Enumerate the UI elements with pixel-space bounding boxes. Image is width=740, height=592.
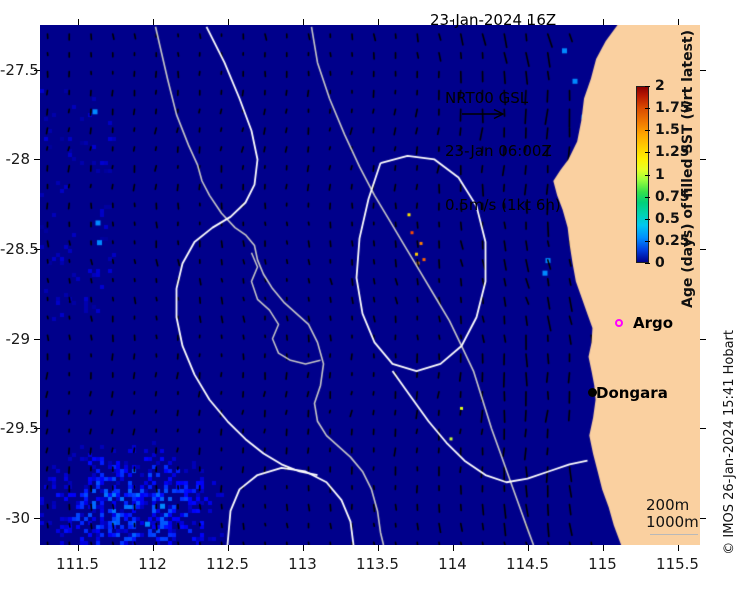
x-axis-tick bbox=[603, 545, 604, 551]
colorbar-tick bbox=[645, 263, 650, 264]
x-axis-tick-top bbox=[78, 19, 79, 25]
depth-legend-rule bbox=[650, 534, 698, 535]
x-axis-label: 112 bbox=[138, 555, 167, 573]
x-axis-tick-top bbox=[678, 19, 679, 25]
y-axis-tick-right bbox=[700, 70, 706, 71]
colorbar-title: Age (days) of filled SST (wrt latest) bbox=[680, 30, 696, 308]
x-axis-tick bbox=[228, 545, 229, 551]
right-arrow-icon bbox=[460, 106, 512, 122]
x-axis-tick bbox=[303, 545, 304, 551]
colorbar-tick-label: 2 bbox=[655, 78, 665, 94]
x-axis-tick-top bbox=[228, 19, 229, 25]
y-axis-tick bbox=[34, 159, 40, 160]
x-axis-tick-top bbox=[378, 19, 379, 25]
colorbar-tick bbox=[645, 219, 650, 220]
x-axis-tick bbox=[528, 545, 529, 551]
x-axis-tick bbox=[153, 545, 154, 551]
dongara-place-label: Dongara bbox=[596, 384, 668, 402]
x-axis-label: 114 bbox=[438, 555, 467, 573]
x-axis-tick bbox=[378, 545, 379, 551]
figure-root: 23-Jan-2024 16Z NRT00 GSL 23-Jan 06:00Z … bbox=[0, 0, 740, 592]
y-axis-label: -28 bbox=[0, 150, 30, 168]
colorbar-tick bbox=[645, 241, 650, 242]
y-axis-tick bbox=[34, 339, 40, 340]
colorbar-tick bbox=[645, 130, 650, 131]
x-axis-tick bbox=[78, 545, 79, 551]
y-axis-label: -30 bbox=[0, 509, 30, 527]
product-annotation-block: NRT00 GSL 23-Jan 06:00Z 0.5m/s (1kt 6h) bbox=[445, 55, 561, 250]
colorbar-tick bbox=[645, 197, 650, 198]
y-axis-tick-right bbox=[700, 249, 706, 250]
map-plot-area[interactable] bbox=[40, 25, 700, 545]
y-axis-label: -29.5 bbox=[0, 419, 30, 437]
colorbar-tick bbox=[645, 175, 650, 176]
x-axis-tick bbox=[453, 545, 454, 551]
x-axis-tick-top bbox=[153, 19, 154, 25]
y-axis-tick bbox=[34, 518, 40, 519]
x-axis-label: 115.5 bbox=[656, 555, 699, 573]
y-axis-tick-right bbox=[700, 428, 706, 429]
x-axis-tick-top bbox=[528, 19, 529, 25]
x-axis-label: 114.5 bbox=[506, 555, 549, 573]
x-axis-label: 112.5 bbox=[206, 555, 249, 573]
product-time-label: 23-Jan 06:00Z bbox=[445, 143, 561, 161]
depth-contour-legend: 200m 1000m bbox=[646, 497, 699, 531]
x-axis-label: 111.5 bbox=[56, 555, 99, 573]
x-axis-label: 113.5 bbox=[356, 555, 399, 573]
colorbar-tick bbox=[645, 108, 650, 109]
y-axis-label: -29 bbox=[0, 330, 30, 348]
colorbar-tick bbox=[645, 152, 650, 153]
x-axis-label: 113 bbox=[288, 555, 317, 573]
colorbar-tick-label: 1.5 bbox=[655, 122, 680, 138]
colorbar-tick-label: 0 bbox=[655, 255, 665, 271]
y-axis-tick-right bbox=[700, 159, 706, 160]
depth-contour-layer bbox=[40, 25, 700, 545]
timestamp-label: 23-Jan-2024 16Z bbox=[430, 12, 556, 30]
y-axis-label: -28.5 bbox=[0, 240, 30, 258]
colorbar-tick bbox=[645, 86, 650, 87]
depth-200m-label: 200m bbox=[646, 497, 699, 514]
x-axis-tick-top bbox=[603, 19, 604, 25]
colorbar-tick-label: 1 bbox=[655, 167, 665, 183]
x-axis-tick-top bbox=[303, 19, 304, 25]
x-axis-label: 115 bbox=[588, 555, 617, 573]
colorbar[interactable]: 21.751.51.2510.750.50.250 bbox=[636, 86, 649, 263]
vector-scale-label: 0.5m/s (1kt 6h) bbox=[445, 197, 561, 215]
argo-legend-label: Argo bbox=[633, 314, 673, 332]
y-axis-tick-right bbox=[700, 518, 706, 519]
credit-label: © IMOS 26-Jan-2024 15:41 Hobart bbox=[722, 330, 737, 555]
y-axis-label: -27.5 bbox=[0, 61, 30, 79]
argo-marker-icon bbox=[615, 319, 623, 327]
colorbar-tick-label: 0.5 bbox=[655, 211, 680, 227]
depth-1000m-label: 1000m bbox=[646, 514, 699, 531]
x-axis-tick-top bbox=[453, 19, 454, 25]
y-axis-tick-right bbox=[700, 339, 706, 340]
x-axis-tick bbox=[678, 545, 679, 551]
